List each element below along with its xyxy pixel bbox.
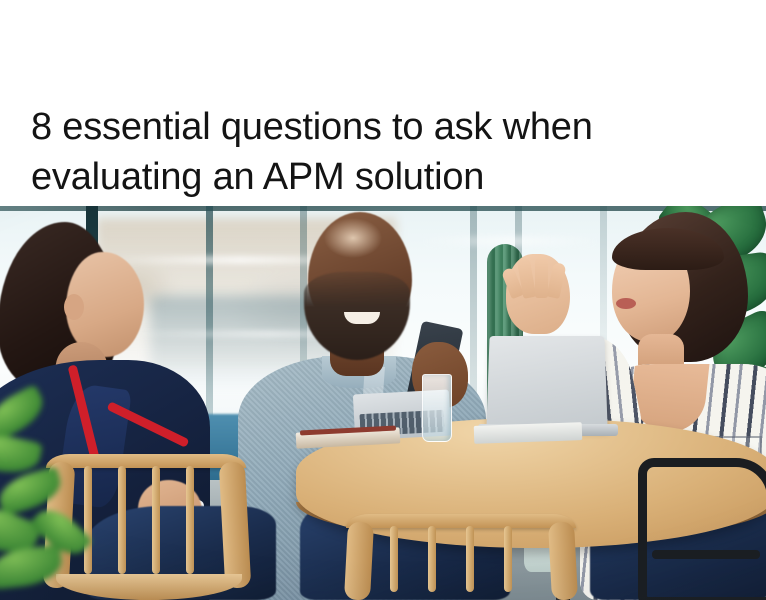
chair-backrest bbox=[346, 514, 576, 528]
black-metal-chair bbox=[638, 458, 766, 600]
finger bbox=[547, 262, 567, 299]
foreground-plant bbox=[0, 392, 126, 600]
page-title: 8 essential questions to ask when evalua… bbox=[31, 102, 651, 202]
chair-spindle bbox=[186, 466, 194, 574]
chair-spindle bbox=[428, 526, 436, 592]
notebook bbox=[474, 422, 583, 444]
chair-spindle bbox=[504, 526, 512, 592]
chair-frame bbox=[638, 458, 766, 600]
laptop-primary bbox=[486, 336, 607, 431]
chair-spindle bbox=[152, 466, 160, 574]
plant-leaf bbox=[0, 466, 65, 516]
water-glass bbox=[422, 374, 452, 442]
headline-block: 8 essential questions to ask when evalua… bbox=[0, 0, 766, 206]
chair-arm bbox=[344, 521, 374, 600]
person-right-lips bbox=[616, 298, 636, 309]
blog-header-card: 8 essential questions to ask when evalua… bbox=[0, 0, 766, 600]
wooden-chair-center bbox=[346, 506, 582, 600]
chair-crossbar bbox=[652, 550, 760, 559]
plant-leaf bbox=[0, 384, 50, 442]
chair-arm bbox=[219, 461, 252, 588]
chair-spindle bbox=[390, 526, 398, 592]
hero-photo bbox=[0, 206, 766, 600]
chair-spindle bbox=[466, 526, 474, 592]
chair-arm bbox=[548, 521, 578, 600]
person-left-ear bbox=[64, 294, 84, 320]
person-right-fingers bbox=[504, 246, 570, 298]
person-center-head-highlight bbox=[324, 218, 382, 258]
finger bbox=[535, 256, 548, 298]
